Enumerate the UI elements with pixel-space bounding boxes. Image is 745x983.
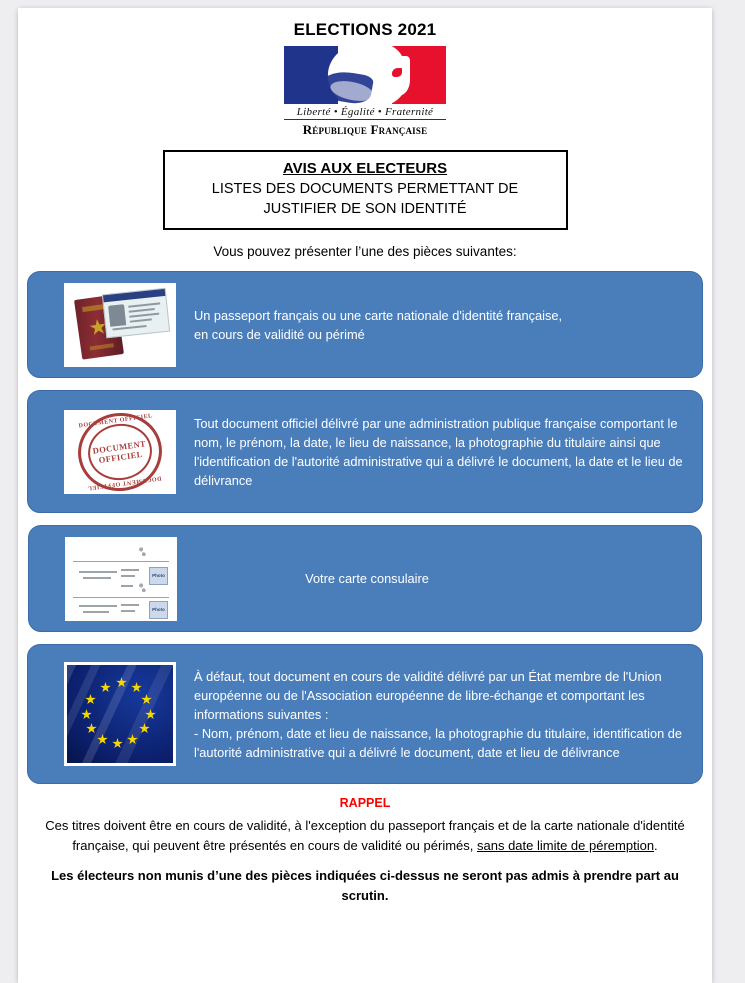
notice-line-1: LISTES DES DOCUMENTS PERMETTANT DE [171,179,560,199]
list-item-text: Un passeport français ou une carte natio… [194,306,690,344]
list-item-text: À défaut, tout document en cours de vali… [194,667,690,762]
footer-warning: Les électeurs non munis d’une des pièces… [36,866,694,906]
rappel-label: RAPPEL [36,796,694,810]
republique-francaise-emblem: Liberté • Égalité • Fraternité Républiqu… [284,46,446,138]
intro-text: Vous pouvez présenter l’une des pièces s… [18,244,712,259]
page-title: ELECTIONS 2021 [18,8,712,40]
list-item-consular-card: Photo Photo Votre carte consulaire [28,525,702,632]
photo-placeholder: Photo [149,567,168,585]
photo-placeholder: Photo [149,601,168,619]
stamp-icon: DOCUMENT OFFICIEL DOCUMENT OFFICIEL DOCU… [73,410,167,494]
official-document-stamp: DOCUMENT OFFICIEL DOCUMENT OFFICIEL DOCU… [64,410,176,494]
list-item-passport: Un passeport français ou une carte natio… [27,271,703,378]
footer-paragraph-part2: . [654,838,658,853]
list-item-official-document: DOCUMENT OFFICIEL DOCUMENT OFFICIEL DOCU… [27,390,703,513]
list-item-text: Votre carte consulaire [195,569,689,588]
list-item-eu-document: À défaut, tout document en cours de vali… [27,644,703,784]
notice-line-2: JUSTIFIER DE SON IDENTITÉ [171,199,560,219]
passport-and-id-card-photo [64,283,176,367]
european-union-flag [64,662,176,766]
list-item-text: Tout document officiel délivré par une a… [194,414,690,490]
notice-heading: AVIS AUX ELECTEURS [171,159,560,179]
devise-text: Liberté • Égalité • Fraternité [284,106,446,120]
document-page: ELECTIONS 2021 Liberté • Égalité • Frate… [18,8,712,983]
footer-section: RAPPEL Ces titres doivent être en cours … [18,796,712,906]
republique-text: République Française [284,122,446,138]
footer-paragraph-underlined: sans date limite de péremption [477,838,654,853]
french-flag-marianne-icon [284,46,446,104]
notice-box: AVIS AUX ELECTEURS LISTES DES DOCUMENTS … [163,150,568,230]
consular-card-form-scan: Photo Photo [65,537,177,621]
document-type-list: Un passeport français ou une carte natio… [18,271,712,784]
footer-paragraph: Ces titres doivent être en cours de vali… [36,816,694,856]
